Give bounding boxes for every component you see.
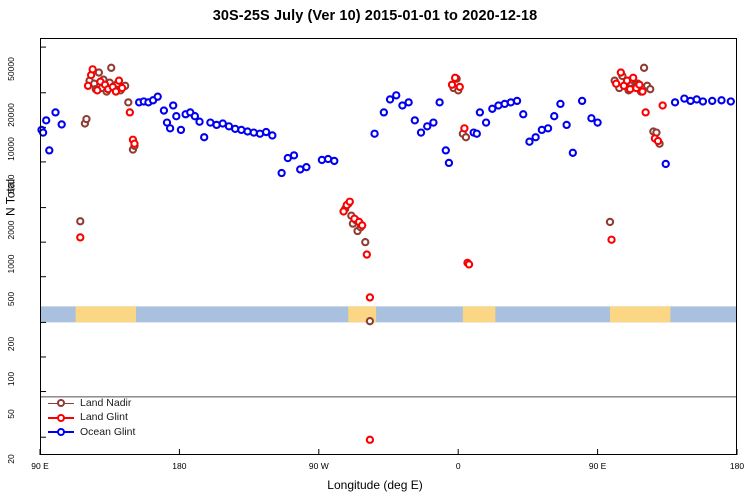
data-point bbox=[446, 160, 452, 166]
legend-item[interactable]: Ocean Glint bbox=[48, 425, 135, 439]
y-tick-label: 20000 bbox=[6, 93, 16, 137]
data-point bbox=[461, 125, 467, 131]
data-point bbox=[263, 129, 269, 135]
legend-item[interactable]: Land Nadir bbox=[48, 396, 135, 410]
data-point bbox=[643, 109, 649, 115]
data-point bbox=[59, 121, 65, 127]
legend: Land NadirLand GlintOcean Glint bbox=[48, 396, 135, 439]
data-point bbox=[291, 152, 297, 158]
data-point bbox=[728, 98, 734, 104]
data-point bbox=[371, 131, 377, 137]
data-point bbox=[588, 115, 594, 121]
data-point bbox=[452, 75, 458, 81]
series-ocean-glint bbox=[38, 92, 733, 176]
data-point bbox=[83, 116, 89, 122]
axis-ticks bbox=[40, 47, 737, 455]
y-tick-label: 20 bbox=[6, 437, 16, 481]
data-point bbox=[367, 318, 373, 324]
data-point bbox=[125, 99, 131, 105]
data-point bbox=[381, 109, 387, 115]
data-point bbox=[647, 86, 653, 92]
data-point bbox=[232, 126, 238, 132]
data-point bbox=[127, 109, 133, 115]
data-point bbox=[424, 123, 430, 129]
scatter-plot-figure: 30S-25S July (Ver 10) 2015-01-01 to 2020… bbox=[0, 0, 750, 500]
data-point bbox=[367, 437, 373, 443]
data-point bbox=[244, 128, 250, 134]
legend-marker-icon bbox=[48, 426, 74, 438]
data-point bbox=[178, 127, 184, 133]
data-point bbox=[90, 66, 96, 72]
data-point bbox=[94, 87, 100, 93]
y-tick-label: 50000 bbox=[6, 47, 16, 91]
data-point bbox=[636, 82, 642, 88]
data-point bbox=[113, 88, 119, 94]
x-tick-label: 90 E bbox=[568, 461, 628, 471]
data-point bbox=[359, 222, 365, 228]
data-point bbox=[570, 150, 576, 156]
legend-marker-icon bbox=[48, 412, 74, 424]
data-point bbox=[655, 138, 661, 144]
data-point bbox=[393, 92, 399, 98]
data-point bbox=[618, 69, 624, 75]
data-point bbox=[660, 102, 666, 108]
x-tick-label: 180 bbox=[149, 461, 209, 471]
data-point bbox=[545, 125, 551, 131]
data-point bbox=[387, 96, 393, 102]
data-point bbox=[131, 141, 137, 147]
data-point bbox=[663, 161, 669, 167]
data-point bbox=[116, 78, 122, 84]
data-point bbox=[173, 113, 179, 119]
legend-item[interactable]: Land Glint bbox=[48, 410, 135, 424]
data-point bbox=[700, 98, 706, 104]
data-point bbox=[303, 164, 309, 170]
data-point bbox=[457, 84, 463, 90]
data-point bbox=[483, 119, 489, 125]
legend-marker-icon bbox=[48, 397, 74, 409]
y-tick-label: 200 bbox=[6, 322, 16, 366]
data-point bbox=[364, 251, 370, 257]
x-tick-label: 90 W bbox=[289, 461, 349, 471]
data-point bbox=[196, 119, 202, 125]
data-point bbox=[119, 85, 125, 91]
data-point bbox=[201, 134, 207, 140]
data-point bbox=[108, 65, 114, 71]
data-point bbox=[607, 219, 613, 225]
x-tick-label: 0 bbox=[428, 461, 488, 471]
data-point bbox=[489, 106, 495, 112]
data-point bbox=[96, 69, 102, 75]
data-point bbox=[474, 131, 480, 137]
surface-type-band bbox=[41, 306, 736, 322]
y-tick-label: 2000 bbox=[6, 208, 16, 252]
data-point bbox=[437, 99, 443, 105]
legend-label: Land Nadir bbox=[80, 396, 131, 410]
data-point bbox=[639, 88, 645, 94]
data-point bbox=[77, 234, 83, 240]
data-point bbox=[251, 129, 257, 135]
data-point bbox=[514, 98, 520, 104]
data-point bbox=[340, 208, 346, 214]
x-tick-label: 180 bbox=[707, 461, 750, 471]
data-point bbox=[718, 97, 724, 103]
data-point bbox=[155, 94, 161, 100]
data-point bbox=[412, 117, 418, 123]
data-point bbox=[564, 122, 570, 128]
data-point bbox=[630, 75, 636, 81]
data-point bbox=[43, 117, 49, 123]
data-point bbox=[672, 99, 678, 105]
data-point bbox=[608, 237, 614, 243]
data-point bbox=[477, 109, 483, 115]
data-point bbox=[613, 81, 619, 87]
x-tick-label: 90 E bbox=[10, 461, 70, 471]
data-point bbox=[161, 107, 167, 113]
data-point bbox=[362, 239, 368, 245]
data-point bbox=[85, 83, 91, 89]
legend-label: Land Glint bbox=[80, 410, 128, 424]
data-point bbox=[520, 111, 526, 117]
data-point bbox=[463, 134, 469, 140]
data-point bbox=[526, 139, 532, 145]
x-axis-label: Longitude (deg E) bbox=[0, 478, 750, 492]
data-point bbox=[347, 199, 353, 205]
data-point bbox=[449, 82, 455, 88]
data-point bbox=[443, 147, 449, 153]
series-land-nadir bbox=[77, 65, 662, 325]
data-point bbox=[466, 261, 472, 267]
data-point bbox=[279, 170, 285, 176]
data-point bbox=[595, 119, 601, 125]
data-point bbox=[418, 129, 424, 135]
data-point bbox=[367, 294, 373, 300]
data-point bbox=[551, 113, 557, 119]
data-point bbox=[52, 109, 58, 115]
data-point bbox=[430, 119, 436, 125]
data-point bbox=[579, 98, 585, 104]
data-point bbox=[557, 101, 563, 107]
data-point bbox=[331, 158, 337, 164]
data-point bbox=[641, 65, 647, 71]
data-point bbox=[46, 147, 52, 153]
data-point bbox=[709, 98, 715, 104]
data-point bbox=[269, 132, 275, 138]
data-point bbox=[406, 99, 412, 105]
data-point bbox=[170, 102, 176, 108]
data-point bbox=[167, 125, 173, 131]
legend-label: Ocean Glint bbox=[80, 425, 135, 439]
data-point bbox=[533, 134, 539, 140]
data-point bbox=[77, 218, 83, 224]
